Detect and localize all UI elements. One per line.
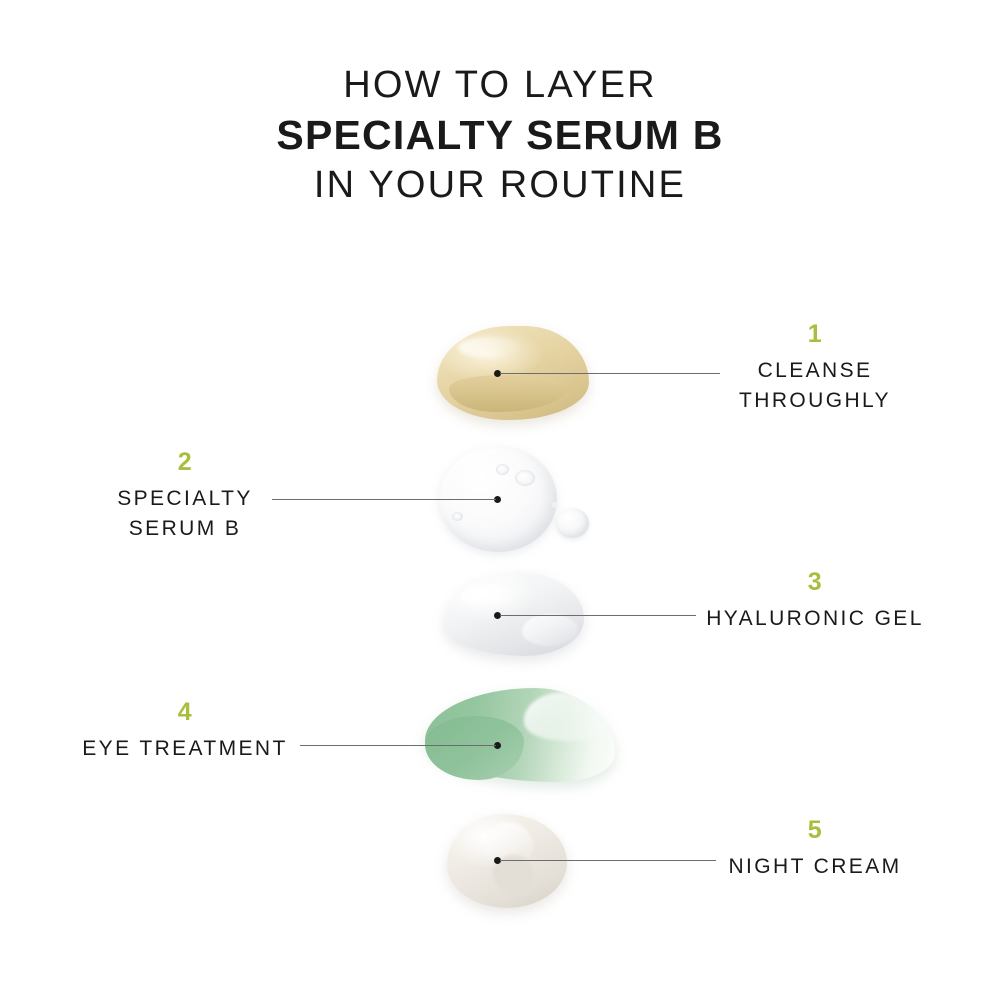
serum-satellite-droplet <box>556 508 589 538</box>
step-4-label: 4 EYE TREATMENT <box>20 700 350 764</box>
title-line-1: HOW TO LAYER <box>0 62 1000 109</box>
title-line-2: SPECIALTY SERUM B <box>0 110 1000 161</box>
step-2-name: SPECIALTY SERUM B <box>20 484 350 544</box>
step-5-name: NIGHT CREAM <box>650 852 980 882</box>
step-2-label: 2 SPECIALTY SERUM B <box>20 450 350 544</box>
serum-bubble-a <box>496 464 509 475</box>
step-3-number: 3 <box>650 570 980 595</box>
serum-bubble-b <box>515 470 535 486</box>
step-1-name: CLEANSE THROUGHLY <box>650 356 980 416</box>
product-swatch-gel <box>444 572 584 656</box>
step-5-label: 5 NIGHT CREAM <box>650 818 980 882</box>
step-3-label: 3 HYALURONIC GEL <box>650 570 980 634</box>
title-line-3: IN YOUR ROUTINE <box>0 162 1000 209</box>
step-1-number: 1 <box>650 322 980 347</box>
step-4-number: 4 <box>20 700 350 725</box>
step-1-label: 1 CLEANSE THROUGHLY <box>650 322 980 416</box>
infographic-canvas: HOW TO LAYER SPECIALTY SERUM B IN YOUR R… <box>0 0 1000 1000</box>
step-4-name: EYE TREATMENT <box>20 734 350 764</box>
product-swatch-night-cream <box>447 814 567 908</box>
step-3-name: HYALURONIC GEL <box>650 604 980 634</box>
step-2-number: 2 <box>20 450 350 475</box>
product-swatch-eye-treatment <box>425 688 615 782</box>
serum-speck <box>552 502 558 508</box>
page-title: HOW TO LAYER SPECIALTY SERUM B IN YOUR R… <box>0 62 1000 209</box>
serum-bubble-c <box>452 512 463 521</box>
step-5-number: 5 <box>650 818 980 843</box>
